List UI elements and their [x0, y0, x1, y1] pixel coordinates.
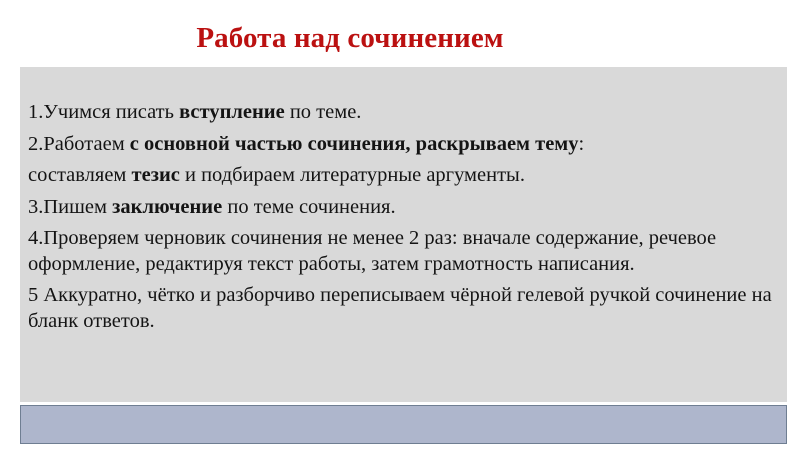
- list-item: 5 Аккуратно, чётко и разборчиво переписы…: [28, 283, 775, 334]
- list-item: 4.Проверяем черновик сочинения не менее …: [28, 226, 775, 277]
- body-text: и подбираем литературные аргументы.: [180, 164, 525, 186]
- list-item: 3.Пишем заключение по теме сочинения.: [28, 195, 775, 221]
- list-item: 2.Работаем с основной частью сочинения, …: [28, 132, 775, 158]
- slide-title-area: Работа над сочинением: [20, 16, 680, 60]
- slide-root: Работа над сочинением 1.Учимся писать вс…: [0, 0, 800, 449]
- emphasis-text: заключение: [112, 196, 222, 218]
- body-text: 2.Работаем: [28, 133, 130, 155]
- emphasis-text: вступление: [179, 101, 285, 123]
- bottom-placeholder-bar[interactable]: [20, 405, 787, 444]
- content-panel: 1.Учимся писать вступление по теме.2.Раб…: [20, 67, 787, 402]
- body-text: 5 Аккуратно, чётко и разборчиво переписы…: [28, 284, 772, 332]
- page-title: Работа над сочинением: [196, 21, 503, 55]
- body-text: 3.Пишем: [28, 196, 112, 218]
- body-text: по теме.: [285, 101, 362, 123]
- body-text: 1.Учимся писать: [28, 101, 179, 123]
- instruction-list: 1.Учимся писать вступление по теме.2.Раб…: [28, 100, 775, 334]
- body-text: составляем: [28, 164, 132, 186]
- emphasis-text: тезис: [132, 164, 180, 186]
- emphasis-text: с основной частью сочинения, раскрываем …: [130, 133, 579, 155]
- list-item: составляем тезис и подбираем литературны…: [28, 163, 775, 189]
- body-text: 4.Проверяем черновик сочинения не менее …: [28, 227, 716, 275]
- body-text: по теме сочинения.: [222, 196, 395, 218]
- body-text: :: [579, 133, 585, 155]
- list-item: 1.Учимся писать вступление по теме.: [28, 100, 775, 126]
